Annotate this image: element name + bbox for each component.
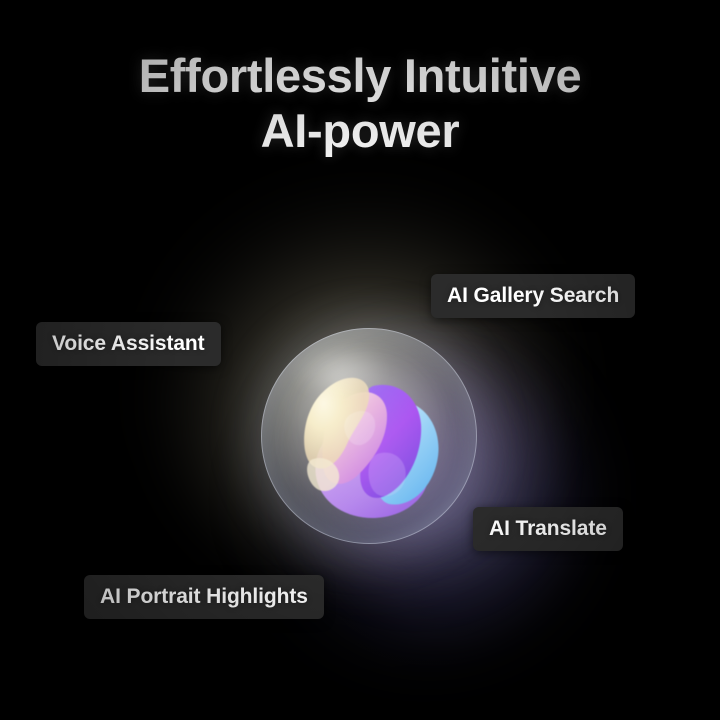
orb-glass-shell (261, 328, 477, 544)
label-chip-ai-portrait-highlights[interactable]: AI Portrait Highlights (84, 575, 324, 619)
orb-fluid-gradient (281, 344, 457, 528)
chip-label: AI Portrait Highlights (100, 585, 308, 609)
page-title-line-2: AI-power (0, 103, 720, 158)
chip-label: AI Gallery Search (447, 284, 619, 308)
ai-orb[interactable] (261, 328, 477, 544)
label-chip-ai-translate[interactable]: AI Translate (473, 507, 623, 551)
label-chip-ai-gallery-search[interactable]: AI Gallery Search (431, 274, 635, 318)
page-title: Effortlessly Intuitive AI-power (0, 48, 720, 159)
chip-label: Voice Assistant (52, 332, 205, 356)
chip-label: AI Translate (489, 517, 607, 541)
page-title-line-1: Effortlessly Intuitive (0, 48, 720, 103)
promo-stage: Effortlessly Intuitive AI-power (0, 0, 720, 720)
label-chip-voice-assistant[interactable]: Voice Assistant (36, 322, 221, 366)
